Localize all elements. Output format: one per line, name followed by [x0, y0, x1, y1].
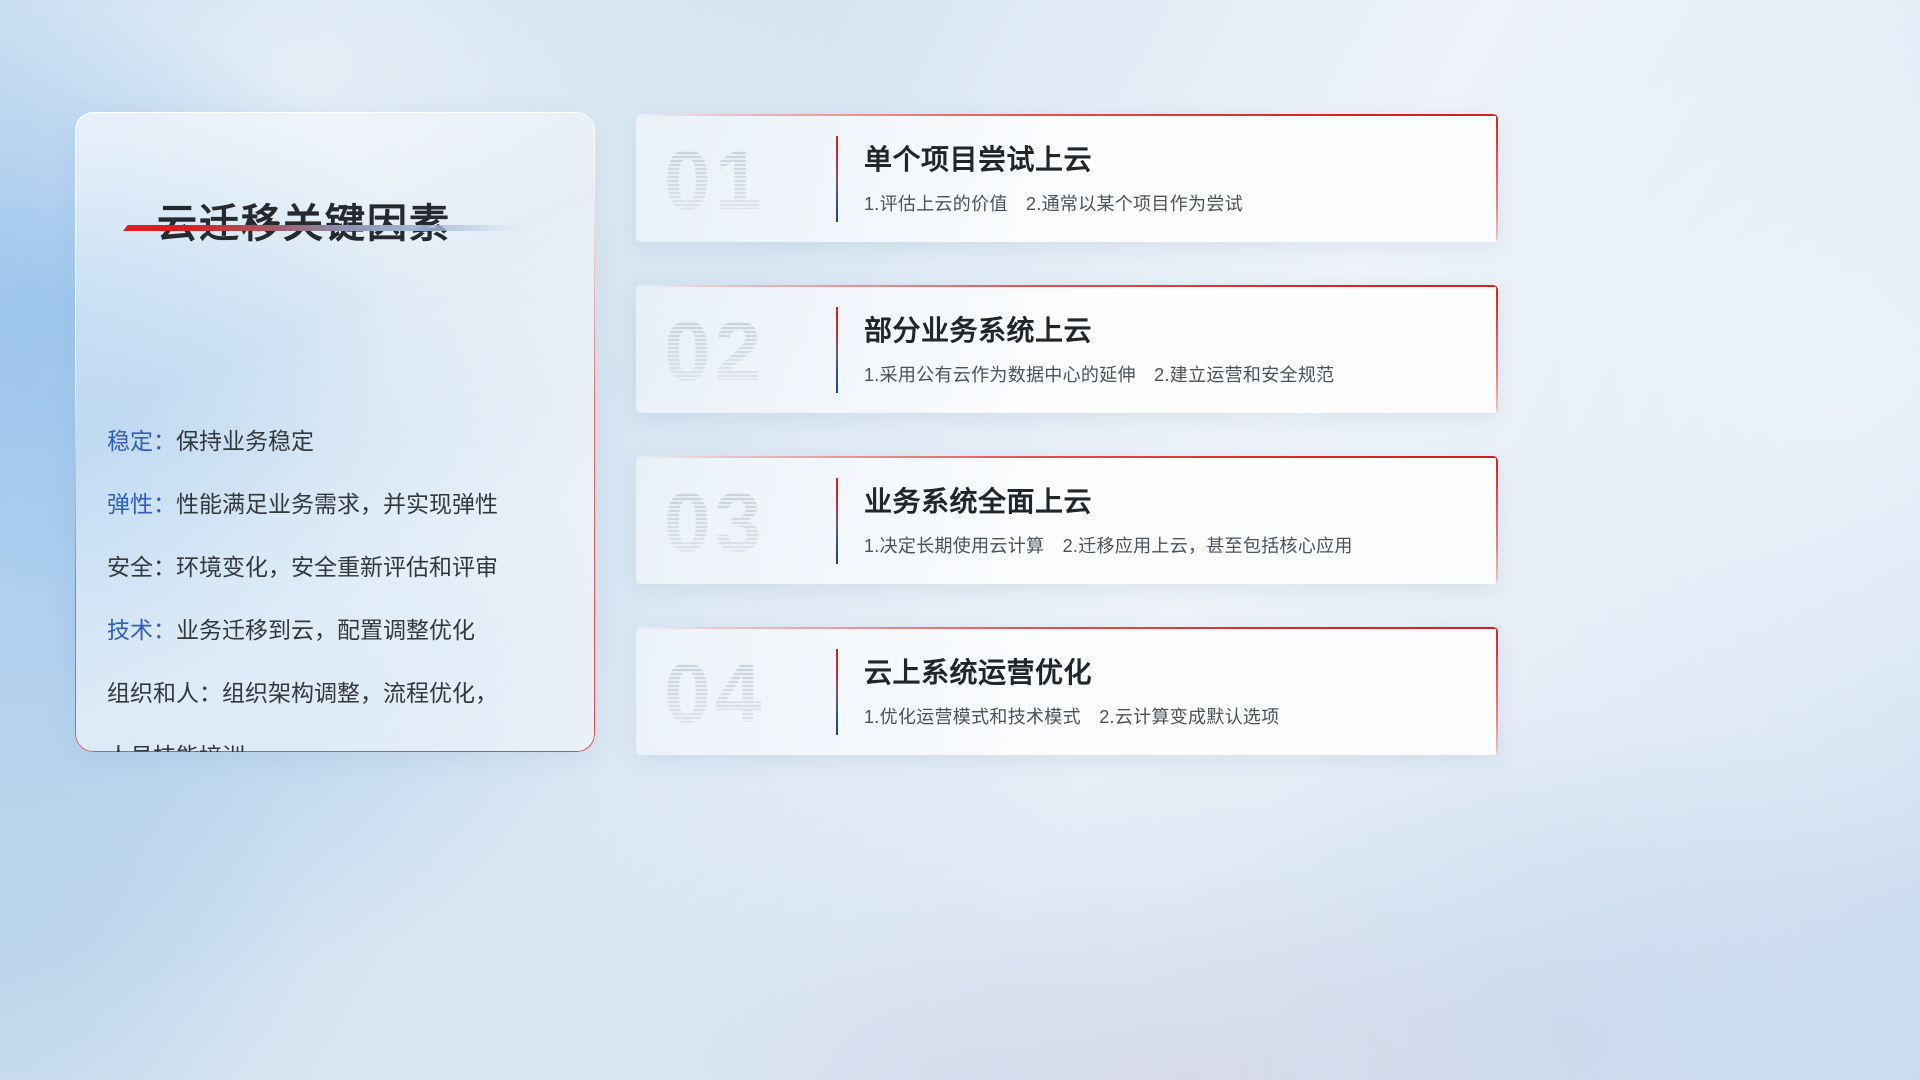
key-factor-label: 安全： [107, 554, 176, 580]
key-factor-row: 弹性：性能满足业务需求，并实现弹性 [107, 493, 577, 516]
stage-card-title: 业务系统全面上云 [864, 480, 1092, 520]
stage-card-subtitle: 1.评估上云的价值 2.通常以某个项目作为尝试 [864, 190, 1243, 216]
key-factors-panel: 云迁移关键因素 稳定：保持业务稳定弹性：性能满足业务需求，并实现弹性安全：环境变… [75, 112, 595, 752]
key-factor-row: 技术：业务迁移到云，配置调整优化 [107, 619, 577, 642]
stage-card-subtitle: 1.决定长期使用云计算 2.迁移应用上云，甚至包括核心应用 [864, 532, 1353, 558]
stage-divider-bar [836, 136, 838, 222]
stage-number-watermark: 03 [664, 470, 844, 574]
stage-card[interactable]: 04云上系统运营优化1.优化运营模式和技术模式 2.云计算变成默认选项 [636, 627, 1498, 755]
stage-card[interactable]: 01单个项目尝试上云1.评估上云的价值 2.通常以某个项目作为尝试 [636, 114, 1498, 242]
key-factor-label: 技术： [107, 617, 176, 643]
stage-card[interactable]: 02部分业务系统上云1.采用公有云作为数据中心的延伸 2.建立运营和安全规范 [636, 285, 1498, 413]
key-factor-text: 人员技能培训 [107, 743, 245, 752]
key-factor-row: 稳定：保持业务稳定 [107, 430, 577, 453]
stage-divider-bar [836, 478, 838, 564]
key-factor-text: 组织架构调整，流程优化， [222, 680, 498, 706]
stage-divider-bar [836, 649, 838, 735]
key-factor-text: 业务迁移到云，配置调整优化 [176, 617, 475, 643]
key-factor-text: 性能满足业务需求，并实现弹性 [176, 491, 498, 517]
stage-number-watermark: 04 [664, 641, 844, 745]
key-factor-row: 安全：环境变化，安全重新评估和评审 [107, 556, 577, 579]
page-title: 云迁移关键因素 [157, 191, 451, 249]
stage-divider-bar [836, 307, 838, 393]
stage-number-watermark: 02 [664, 299, 844, 403]
stage-card-title: 单个项目尝试上云 [864, 138, 1092, 178]
title-underline-gradient [123, 225, 523, 231]
stage-card-subtitle: 1.优化运营模式和技术模式 2.云计算变成默认选项 [864, 703, 1280, 729]
key-factor-row: 人员技能培训 [107, 745, 577, 752]
key-factor-label: 组织和人： [107, 680, 222, 706]
stage-card[interactable]: 03业务系统全面上云1.决定长期使用云计算 2.迁移应用上云，甚至包括核心应用 [636, 456, 1498, 584]
stage-number-watermark: 01 [664, 128, 844, 232]
stage-card-title: 部分业务系统上云 [864, 309, 1092, 349]
stage-card-title: 云上系统运营优化 [864, 651, 1092, 691]
key-factor-label: 稳定： [107, 428, 176, 454]
key-factor-label: 弹性： [107, 491, 176, 517]
key-factor-text: 环境变化，安全重新评估和评审 [176, 554, 498, 580]
stage-card-subtitle: 1.采用公有云作为数据中心的延伸 2.建立运营和安全规范 [864, 361, 1334, 387]
key-factor-text: 保持业务稳定 [176, 428, 314, 454]
key-factor-row: 组织和人：组织架构调整，流程优化， [107, 682, 577, 705]
